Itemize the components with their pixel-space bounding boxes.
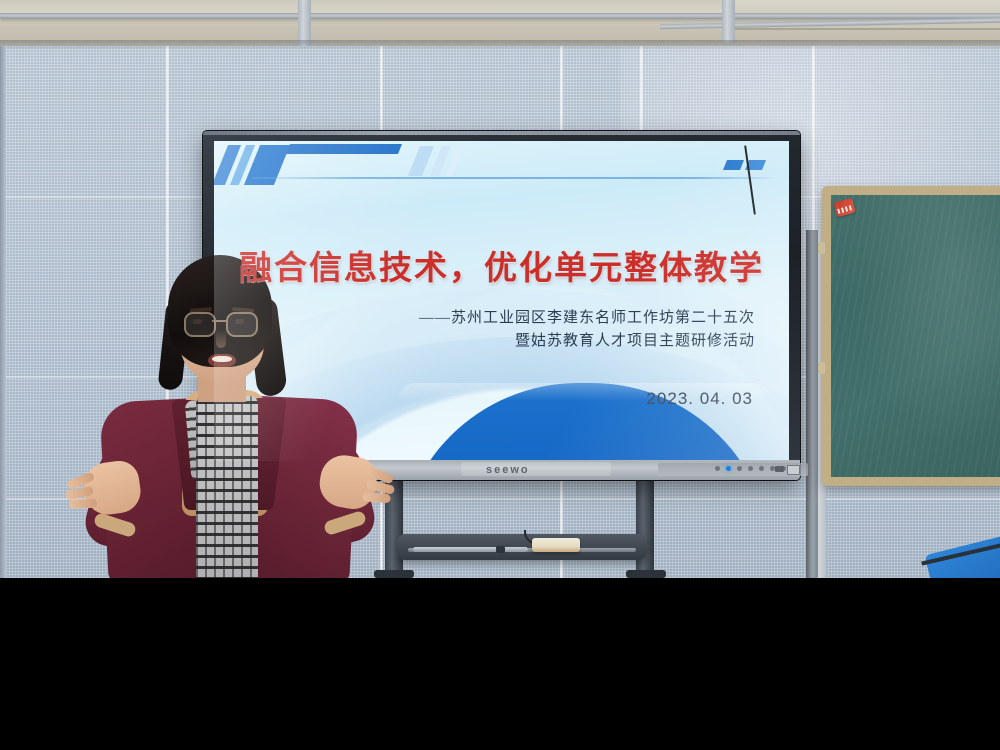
slide-subtitle: ——苏州工业园区李建东名师工作坊第二十五次 暨姑苏教育人才项目主题研修活动 <box>419 307 755 354</box>
letterbox-bar <box>0 578 1000 750</box>
display-button-icon[interactable] <box>748 466 753 471</box>
deco-bar-icon <box>723 160 744 170</box>
ceiling-beam-right <box>722 0 735 42</box>
display-button-icon[interactable] <box>715 466 720 471</box>
chalkboard-sticker <box>833 198 855 218</box>
slide-divider-line <box>252 177 772 179</box>
ceiling-rail <box>0 13 1000 19</box>
chalkboard-clip <box>818 362 825 374</box>
deco-bar-icon <box>286 144 402 154</box>
display-brand-logo: seewo <box>486 464 530 476</box>
slide-subtitle-line-2: 暨姑苏教育人才项目主题研修活动 <box>419 330 755 353</box>
ceiling-shadow <box>0 40 1000 50</box>
display-power-led-icon[interactable] <box>726 466 731 471</box>
display-stand-post-right <box>636 478 654 578</box>
slide-decoration-top-middle <box>410 146 500 178</box>
ir-touch-strip <box>461 462 611 476</box>
display-stand-foot-right <box>626 570 666 578</box>
stylus-pen[interactable] <box>413 547 528 552</box>
presenter-scarf <box>196 396 258 578</box>
eyeglasses-icon <box>184 312 216 337</box>
wall-edge-left <box>0 46 6 578</box>
presenter-teeth <box>212 356 232 362</box>
classroom-photo-scene: 融合信息技术，优化单元整体教学 ——苏州工业园区李建东名师工作坊第二十五次 暨姑… <box>0 0 1000 750</box>
chalkboard <box>822 186 1000 486</box>
slide-subtitle-line-1: ——苏州工业园区李建东名师工作坊第二十五次 <box>419 307 755 330</box>
eyeglasses-bridge-icon <box>212 320 226 322</box>
whiteboard-eraser[interactable] <box>532 538 580 552</box>
display-button-icon[interactable] <box>759 466 764 471</box>
stylus-pen-tip-icon <box>496 546 505 553</box>
slide-date: 2023. 04. 03 <box>646 389 753 409</box>
photo-frame: 融合信息技术，优化单元整体教学 ——苏州工业园区李建东名师工作坊第二十五次 暨姑… <box>0 0 1000 578</box>
eyeglasses-icon <box>226 312 258 337</box>
chalkboard-clip <box>818 242 825 254</box>
presenter-finger <box>362 492 391 503</box>
presenter-finger <box>69 499 97 509</box>
presenter-nose <box>216 330 226 348</box>
display-bezel-highlight <box>203 131 800 135</box>
wall-post-right <box>806 230 818 578</box>
usb-port-icon[interactable] <box>775 466 784 472</box>
hdmi-port-icon[interactable] <box>787 465 800 475</box>
slide-title: 融合信息技术，优化单元整体教学 <box>214 241 789 289</box>
display-button-icon[interactable] <box>737 466 742 471</box>
presenter <box>70 250 390 578</box>
deco-bar-icon <box>408 146 434 176</box>
